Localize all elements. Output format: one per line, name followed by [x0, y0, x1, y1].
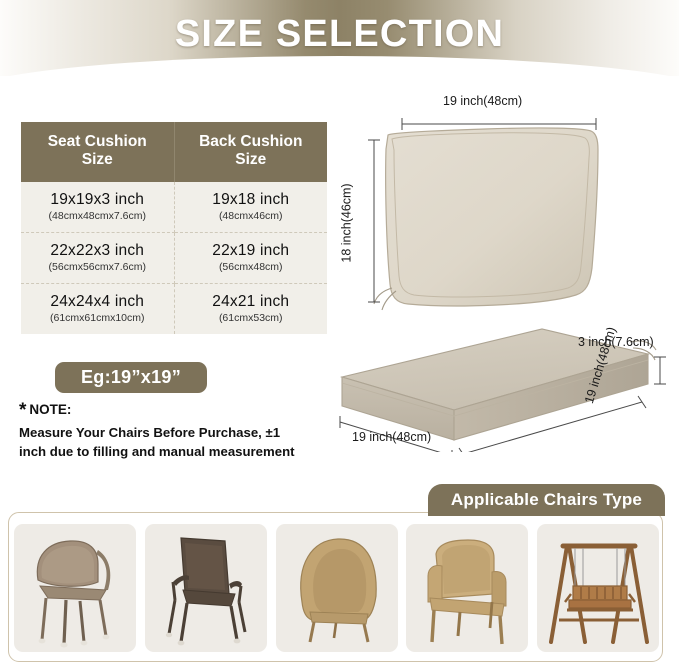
- back-cushion-height-label: 18 inch(46cm): [340, 183, 354, 262]
- applicable-chairs-list: [14, 524, 659, 652]
- natural-wicker-armchair-icon: [406, 524, 528, 652]
- back-size-inches: 19x18 inch: [179, 191, 324, 209]
- note-block: *NOTE: Measure Your Chairs Before Purcha…: [19, 400, 309, 461]
- back-cushion-shape: [386, 128, 598, 306]
- back-size-cm: (61cmx53cm): [179, 312, 324, 324]
- back-size-cell: 24x21 inch (61cmx53cm): [174, 283, 327, 334]
- table-header-row: Seat Cushion Size Back Cushion Size: [21, 122, 327, 182]
- chair-thumbnail-round-back-rattan-stacking-chair: [14, 524, 136, 652]
- size-chart-table: Seat Cushion Size Back Cushion Size 19x1…: [21, 122, 327, 334]
- back-size-inches: 22x19 inch: [179, 242, 324, 260]
- table-row: 22x22x3 inch (56cmx56cmx7.6cm) 22x19 inc…: [21, 232, 327, 283]
- seat-size-cell: 24x24x4 inch (61cmx61cmx10cm): [21, 283, 174, 334]
- barrel-back-wicker-chair-icon: [276, 524, 398, 652]
- example-size-badge: Eg:19”x19”: [55, 362, 207, 393]
- back-cushion-width-label: 19 inch(48cm): [443, 94, 522, 108]
- wooden-porch-swing-icon: [537, 524, 659, 652]
- seat-size-inches: 22x22x3 inch: [25, 242, 170, 260]
- back-size-cell: 19x18 inch (48cmx46cm): [174, 182, 327, 233]
- column-header-seat-cushion-size: Seat Cushion Size: [21, 122, 174, 182]
- round-back-rattan-stacking-chair-icon: [14, 524, 136, 652]
- chair-thumbnail-wooden-porch-swing: [537, 524, 659, 652]
- table-row: 24x24x4 inch (61cmx61cmx10cm) 24x21 inch…: [21, 283, 327, 334]
- dark-brown-wicker-dining-chair-icon: [145, 524, 267, 652]
- seat-size-cell: 19x19x3 inch (48cmx48cmx7.6cm): [21, 182, 174, 233]
- chair-thumbnail-barrel-back-wicker-chair: [276, 524, 398, 652]
- seat-width-label: 19 inch(48cm): [352, 430, 431, 444]
- table-row: 19x19x3 inch (48cmx48cmx7.6cm) 19x18 inc…: [21, 182, 327, 233]
- page-title: SIZE SELECTION: [0, 13, 679, 56]
- back-size-inches: 24x21 inch: [179, 293, 324, 311]
- back-size-cell: 22x19 inch (56cmx48cm): [174, 232, 327, 283]
- seat-size-inches: 24x24x4 inch: [25, 293, 170, 311]
- applicable-chairs-banner: Applicable Chairs Type: [428, 484, 665, 516]
- seat-size-cm: (61cmx61cmx10cm): [25, 312, 170, 324]
- column-header-back-cushion-size: Back Cushion Size: [174, 122, 327, 182]
- chair-thumbnail-dark-brown-wicker-dining-chair: [145, 524, 267, 652]
- chair-thumbnail-natural-wicker-armchair: [406, 524, 528, 652]
- note-heading: *NOTE:: [19, 400, 309, 422]
- back-size-cm: (56cmx48cm): [179, 261, 324, 273]
- cushion-dimension-illustration: 19 inch(48cm) 18 inch(46cm) 3 inch(7.6cm…: [330, 92, 679, 452]
- seat-size-cm: (56cmx56cmx7.6cm): [25, 261, 170, 273]
- seat-size-inches: 19x19x3 inch: [25, 191, 170, 209]
- back-size-cm: (48cmx46cm): [179, 210, 324, 222]
- asterisk-icon: *: [19, 400, 26, 421]
- cushion-set-drawing: [330, 92, 679, 452]
- seat-size-cell: 22x22x3 inch (56cmx56cmx7.6cm): [21, 232, 174, 283]
- seat-size-cm: (48cmx48cmx7.6cm): [25, 210, 170, 222]
- note-text: Measure Your Chairs Before Purchase, ±1 …: [19, 424, 309, 461]
- banner-bottom-curve: [0, 56, 679, 96]
